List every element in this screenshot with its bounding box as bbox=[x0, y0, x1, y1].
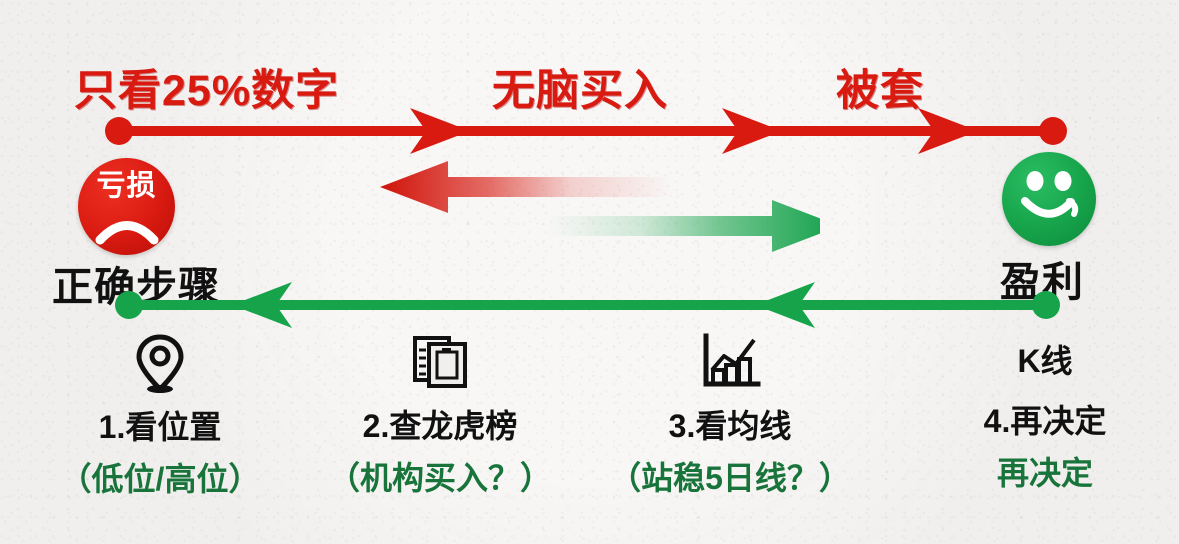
step-1-subtitle: （低位/高位） bbox=[35, 454, 285, 500]
green-right-arrow bbox=[547, 200, 820, 252]
step-4-header: K线 bbox=[940, 336, 1150, 382]
step-4-title: 4.再决定 bbox=[940, 396, 1150, 442]
step-2: 2.查龙虎榜 （机构买入？） bbox=[310, 332, 570, 499]
bar-chart-trend-icon bbox=[698, 332, 762, 392]
step-4-subtitle: 再决定 bbox=[940, 448, 1150, 494]
correct-path-arrow-line bbox=[0, 278, 1179, 338]
profit-badge bbox=[1002, 152, 1096, 246]
step-3-title: 3.看均线 bbox=[595, 401, 865, 447]
step-2-subtitle: （机构买入？） bbox=[310, 453, 570, 499]
step-3-subtitle: （站稳5日线？） bbox=[595, 453, 865, 499]
sad-face-icon bbox=[92, 210, 162, 246]
documents-list-icon bbox=[409, 332, 471, 392]
step-4: K线 4.再决定 再决定 bbox=[940, 336, 1150, 494]
step-1-title: 1.看位置 bbox=[35, 402, 285, 448]
swap-direction-arrows bbox=[380, 152, 820, 272]
loss-badge-label: 亏损 bbox=[78, 172, 175, 201]
infographic-stage: 只看25%数字 无脑买入 被套 亏损 bbox=[0, 0, 1179, 544]
step-1: 1.看位置 （低位/高位） bbox=[35, 332, 285, 500]
step-2-title: 2.查龙虎榜 bbox=[310, 401, 570, 447]
location-pin-icon bbox=[132, 332, 188, 394]
loss-badge-circle: 亏损 bbox=[78, 158, 175, 255]
profit-badge-circle bbox=[1002, 152, 1096, 246]
red-left-arrow bbox=[380, 161, 673, 213]
step-3: 3.看均线 （站稳5日线？） bbox=[595, 332, 865, 499]
loss-badge: 亏损 bbox=[78, 158, 175, 255]
happy-face-icon bbox=[1013, 168, 1085, 230]
